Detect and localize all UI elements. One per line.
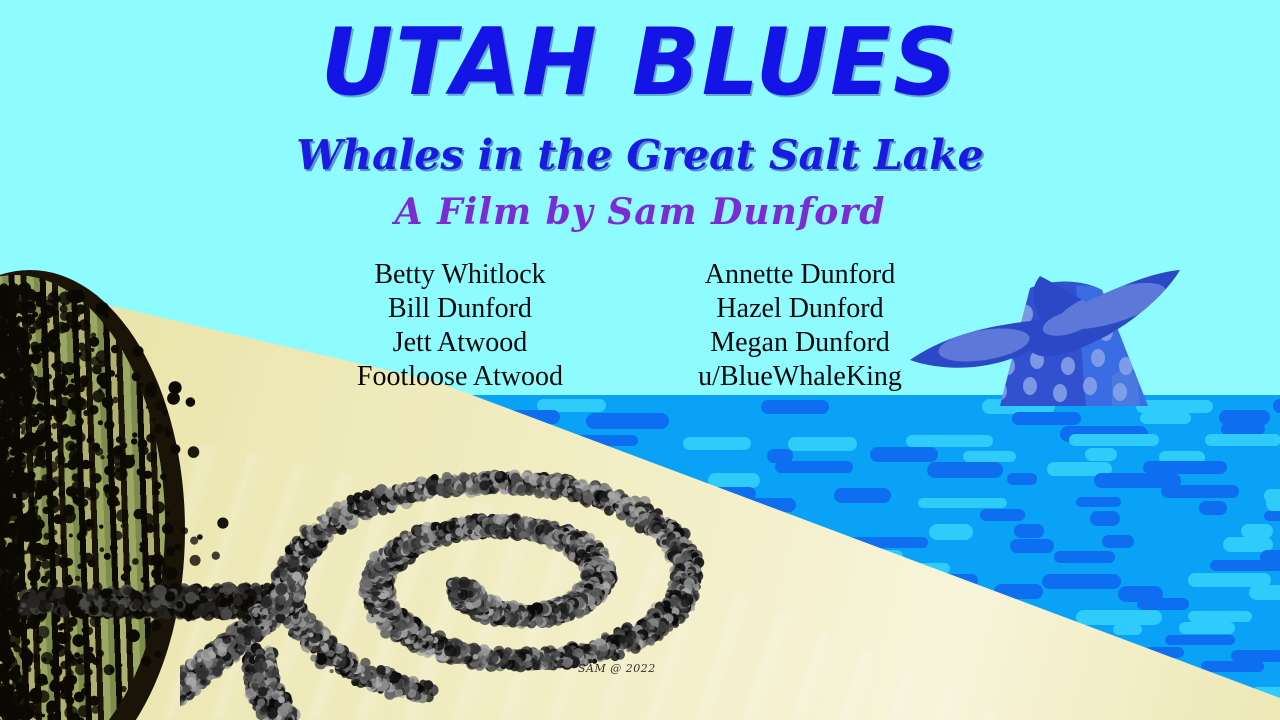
water-dash bbox=[1179, 622, 1236, 633]
water-dash bbox=[906, 435, 993, 448]
water-dash bbox=[1188, 611, 1252, 622]
water-dash bbox=[1014, 524, 1044, 539]
cast-column-right: Annette Dunford Hazel Dunford Megan Dunf… bbox=[640, 258, 960, 395]
water-dash bbox=[1113, 624, 1142, 636]
water-dash bbox=[1054, 551, 1114, 563]
water-dash bbox=[1042, 574, 1121, 589]
cast-name: Hazel Dunford bbox=[640, 292, 960, 326]
water-dash bbox=[1137, 598, 1189, 610]
water-dash bbox=[1165, 635, 1235, 646]
cast-name: Betty Whitlock bbox=[300, 258, 620, 292]
jetty-rocks bbox=[180, 470, 704, 720]
page-title: UTAH BLUES bbox=[26, 16, 1255, 109]
water-dash bbox=[1012, 412, 1080, 426]
water-dash bbox=[1249, 585, 1280, 601]
movie-poster: UTAH BLUES Whales in the Great Salt Lake… bbox=[0, 0, 1280, 720]
water-dash bbox=[1069, 434, 1159, 446]
water-dash bbox=[1199, 501, 1227, 515]
water-dash bbox=[1201, 661, 1264, 672]
cast-name: Jett Atwood bbox=[300, 326, 620, 360]
spiral-jetty bbox=[180, 440, 880, 720]
water-dash bbox=[1076, 610, 1162, 625]
water-dash bbox=[1161, 485, 1239, 498]
water-dash bbox=[1143, 461, 1227, 473]
water-dash bbox=[1007, 473, 1037, 485]
cast-name: Annette Dunford bbox=[640, 258, 960, 292]
water-dash bbox=[1085, 448, 1118, 460]
cast-credits: Betty Whitlock Bill Dunford Jett Atwood … bbox=[300, 258, 960, 395]
cast-column-left: Betty Whitlock Bill Dunford Jett Atwood … bbox=[300, 258, 620, 395]
water-dash bbox=[1266, 497, 1280, 511]
water-dash bbox=[1231, 650, 1280, 662]
water-dash bbox=[586, 413, 669, 429]
water-dash bbox=[918, 498, 1007, 508]
water-dash bbox=[1140, 412, 1191, 424]
water-dash bbox=[1210, 560, 1280, 572]
water-dash bbox=[1090, 511, 1120, 526]
cast-name: u/BlueWhaleKing bbox=[640, 360, 960, 394]
water-dash bbox=[1205, 434, 1280, 446]
water-dash bbox=[1221, 423, 1265, 435]
water-dash bbox=[927, 462, 1003, 478]
cast-name: Footloose Atwood bbox=[300, 360, 620, 394]
byline-credit: A Film by Sam Dunford bbox=[0, 194, 1280, 230]
water-dash bbox=[963, 451, 1016, 462]
cast-name: Bill Dunford bbox=[300, 292, 620, 326]
cast-name: Megan Dunford bbox=[640, 326, 960, 360]
artist-signature: SAM @ 2022 bbox=[578, 662, 656, 675]
subtitle: Whales in the Great Salt Lake bbox=[0, 135, 1280, 176]
water-dash bbox=[1076, 497, 1120, 507]
water-dash bbox=[870, 447, 938, 462]
water-dash bbox=[761, 400, 829, 414]
water-dash bbox=[929, 524, 973, 540]
water-dash bbox=[1010, 539, 1054, 553]
water-dash bbox=[1264, 511, 1280, 521]
water-dash bbox=[1102, 535, 1135, 547]
water-dash bbox=[980, 509, 1025, 521]
